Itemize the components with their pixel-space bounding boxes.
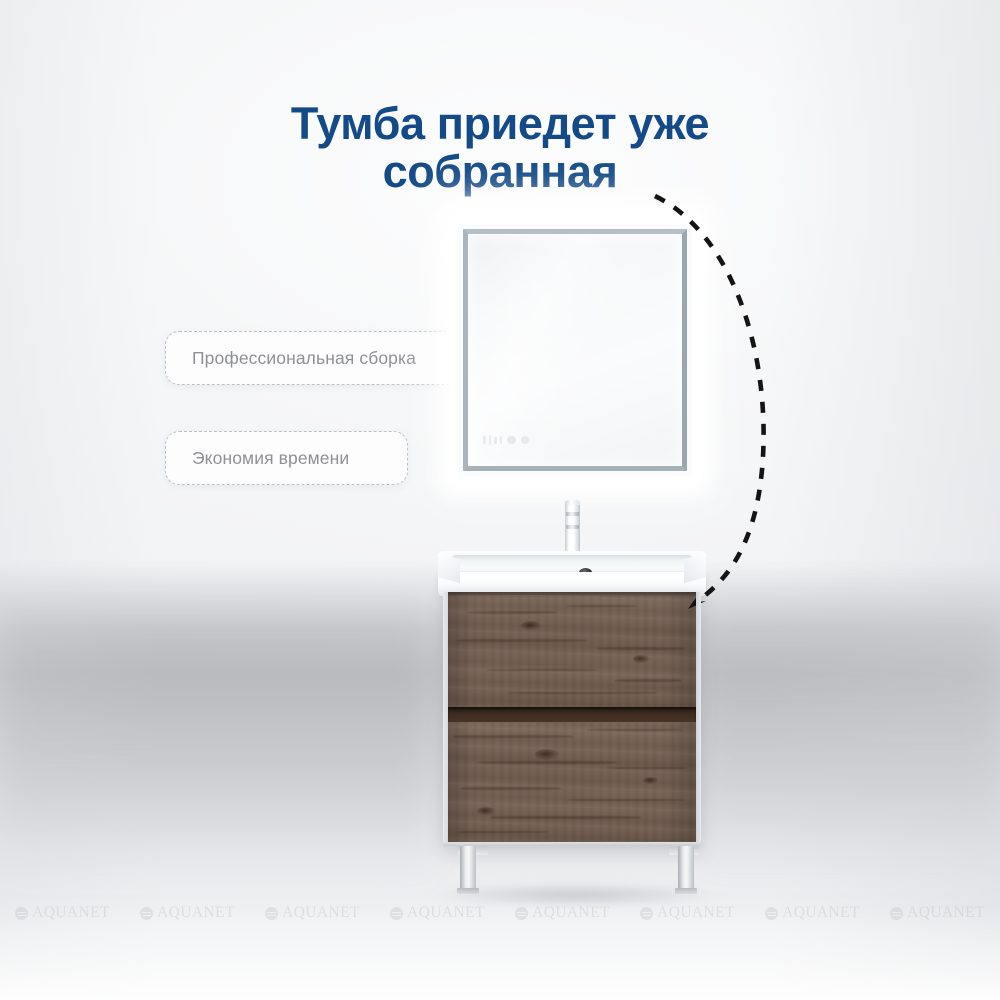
watermark-row: AQUANET AQUANET AQUANET AQUANET AQUANET … (0, 899, 1000, 927)
watermark-item: AQUANET (125, 904, 250, 922)
watermark-item: AQUANET (250, 904, 375, 922)
faucet-spout (566, 525, 579, 529)
control-dot-icon (507, 436, 516, 445)
watermark-label: AQUANET (282, 904, 360, 922)
ceramic-washbasin (438, 551, 706, 596)
product-promo-image: Тумба приедет уже собранная Профессионал… (0, 0, 1000, 1000)
watermark-item: AQUANET (375, 904, 500, 922)
watermark-label: AQUANET (407, 904, 485, 922)
faucet-body (565, 502, 580, 558)
aquanet-logo-icon (15, 907, 28, 920)
watermark-label: AQUANET (532, 904, 610, 922)
aquanet-logo-icon (390, 907, 403, 920)
watermark-item: AQUANET (0, 904, 125, 922)
mirror-touch-controls (483, 435, 529, 445)
floor-shadow-right (700, 580, 1000, 880)
aquanet-logo-icon (890, 907, 903, 920)
faucet-lever (566, 512, 579, 516)
feature-tag-professional-assembly: Профессиональная сборка (165, 331, 483, 385)
control-dot-icon (521, 436, 530, 445)
feature-tag-time-saving: Экономия времени (165, 431, 408, 485)
watermark-label: AQUANET (657, 904, 735, 922)
cabinet-drawer-lower (447, 721, 697, 841)
feature-tag-label: Профессиональная сборка (192, 348, 416, 369)
aquanet-logo-icon (765, 907, 778, 920)
control-bar-icon (483, 436, 486, 444)
cabinet-top-shadow (443, 592, 701, 598)
watermark-label: AQUANET (32, 904, 110, 922)
wood-vanity-cabinet (443, 592, 701, 846)
watermark-label: AQUANET (157, 904, 235, 922)
basin-bowl (452, 555, 692, 571)
control-bar-icon (494, 437, 497, 444)
watermark-label: AQUANET (907, 904, 985, 922)
cabinet-right-edge (696, 592, 701, 846)
aquanet-logo-icon (515, 907, 528, 920)
watermark-item: AQUANET (625, 904, 750, 922)
cabinet-bottom-edge (443, 842, 701, 846)
watermark-item: AQUANET (750, 904, 875, 922)
page-title: Тумба приедет уже собранная (150, 100, 850, 195)
control-bar-icon (489, 435, 492, 445)
control-bar-icon (500, 436, 503, 444)
watermark-item: AQUANET (875, 904, 1000, 922)
cabinet-left-edge (443, 592, 448, 846)
feature-tag-label: Экономия времени (192, 448, 349, 469)
aquanet-logo-icon (140, 907, 153, 920)
watermark-item: AQUANET (500, 904, 625, 922)
aquanet-logo-icon (640, 907, 653, 920)
faucet-cap (565, 500, 580, 505)
mirror-glass (469, 235, 681, 465)
drawer-gap (447, 707, 697, 722)
watermark-label: AQUANET (782, 904, 860, 922)
aquanet-logo-icon (265, 907, 278, 920)
floor-shadow-left (0, 580, 430, 880)
cabinet-drawer-upper (447, 595, 697, 707)
led-mirror (458, 224, 692, 476)
